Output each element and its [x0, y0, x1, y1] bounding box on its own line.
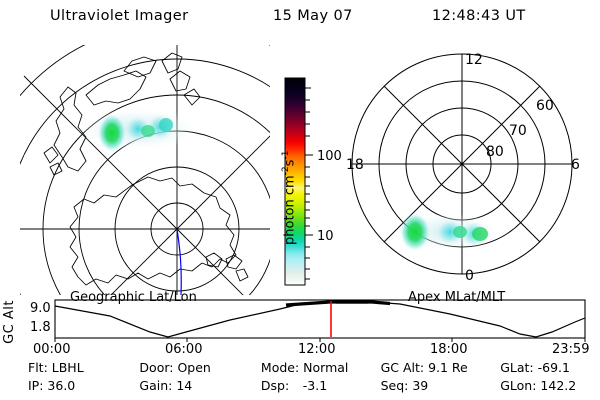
mlat-label-80: 80: [486, 144, 504, 160]
status-cell-flt: Flt: LBHL: [28, 360, 139, 378]
colorbar-ticks: [305, 88, 313, 279]
status-cell-gcalt: GC Alt: 9.1 Re: [381, 360, 501, 378]
colorbar-title-exponent: -2: [281, 166, 291, 175]
status-cell-gain: Gain: 14: [139, 378, 260, 396]
status-row: Flt: LBHL Door: Open Mode: Normal GC Alt…: [28, 360, 600, 378]
geographic-panel-caption: Geographic Lat/Lon: [70, 290, 197, 305]
instrument-title: Ultraviolet Imager: [50, 8, 188, 24]
status-key-gain: Gain:: [139, 378, 172, 393]
status-cell-glat: GLat: -69.1: [500, 360, 600, 378]
status-cell-mode: Mode: Normal: [261, 360, 381, 378]
orbit-altitude-panel[interactable]: Geographic Lat/Lon Apex MLat/MLT 9.0 1.8…: [0, 292, 600, 354]
apex-plot-svg: 12 18 6 0 60 70 80: [340, 42, 590, 298]
uvi-display-window: Ultraviolet Imager 15 May 07 12:48:43 UT: [0, 0, 600, 400]
status-cell-ip: IP: 36.0: [28, 378, 139, 396]
apex-panel-caption: Apex MLat/MLT: [408, 290, 505, 305]
status-key-door: Door:: [139, 360, 173, 375]
status-key-glat: GLat:: [500, 360, 533, 375]
mlat-label-60: 60: [536, 98, 554, 114]
colorbar-axis-title: photon cm-2s-1: [281, 227, 297, 245]
status-key-flt: Flt:: [28, 360, 48, 375]
status-bar: Flt: LBHL Door: Open Mode: Normal GC Alt…: [0, 358, 600, 400]
colorbar-tick-10: 10: [317, 229, 334, 244]
orbit-coverage-segment-b: [336, 302, 390, 304]
apex-image-panel[interactable]: 12 18 6 0 60 70 80: [340, 42, 590, 298]
time-tick-1200: 12:00: [298, 342, 335, 357]
time-tick-0600: 06:00: [165, 342, 202, 357]
status-cell-seq: Seq: 39: [381, 378, 501, 396]
colorbar-title-unit-exponent: -1: [281, 151, 291, 160]
colorbar-title-unit: s: [282, 160, 297, 167]
status-value-gcalt: 9.1 Re: [428, 360, 468, 375]
mlt-label-12: 12: [465, 52, 483, 68]
orbit-altitude-trace: [55, 302, 585, 337]
terminator-line: [177, 229, 181, 295]
gcalt-tick-max: 9.0: [30, 301, 51, 316]
status-key-glon: GLon:: [500, 378, 536, 393]
gcalt-axis-label: GC Alt: [2, 300, 17, 344]
auroral-emission-apex: [396, 213, 500, 251]
mlat-label-70: 70: [509, 123, 527, 139]
status-value-glat: -69.1: [538, 360, 570, 375]
time-tick-1800: 18:00: [430, 342, 467, 357]
status-key-ip: IP:: [28, 378, 43, 393]
colorbar-title-text: photon cm: [282, 175, 297, 245]
time-tick-0000: 00:00: [33, 342, 70, 357]
status-value-dsp: -3.1: [293, 378, 327, 393]
observation-date: 15 May 07: [273, 8, 353, 24]
status-table: Flt: LBHL Door: Open Mode: Normal GC Alt…: [28, 360, 600, 396]
orbit-plot-frame: [55, 300, 585, 338]
geographic-plot-svg: [20, 45, 270, 295]
status-cell-dsp: Dsp: -3.1: [261, 378, 381, 396]
status-cell-glon: GLon: 142.2: [500, 378, 600, 396]
status-key-seq: Seq:: [381, 378, 409, 393]
colorbar-tick-100: 100: [317, 149, 342, 164]
mlt-label-6: 6: [571, 157, 580, 173]
status-value-gain: 14: [176, 378, 192, 393]
status-value-mode: Normal: [303, 360, 348, 375]
status-value-flt: LBHL: [52, 360, 84, 375]
observation-time: 12:48:43 UT: [432, 8, 526, 24]
status-value-door: Open: [177, 360, 210, 375]
coastline-outlines: [44, 53, 248, 285]
status-row: IP: 36.0 Gain: 14 Dsp: -3.1 Seq: 39 GLon…: [28, 378, 600, 396]
status-cell-door: Door: Open: [139, 360, 260, 378]
status-value-seq: 39: [412, 378, 428, 393]
status-key-mode: Mode:: [261, 360, 299, 375]
status-key-gcalt: GC Alt:: [381, 360, 425, 375]
status-value-ip: 36.0: [47, 378, 75, 393]
status-value-glon: 142.2: [540, 378, 576, 393]
time-tick-2359: 23:59: [552, 342, 589, 357]
gcalt-tick-min: 1.8: [30, 320, 51, 335]
geographic-image-panel[interactable]: [20, 45, 270, 295]
mlt-label-18: 18: [346, 157, 364, 173]
status-key-dsp: Dsp:: [261, 378, 289, 393]
mlt-label-0: 0: [465, 268, 474, 284]
auroral-emission-geographic: [76, 107, 200, 152]
